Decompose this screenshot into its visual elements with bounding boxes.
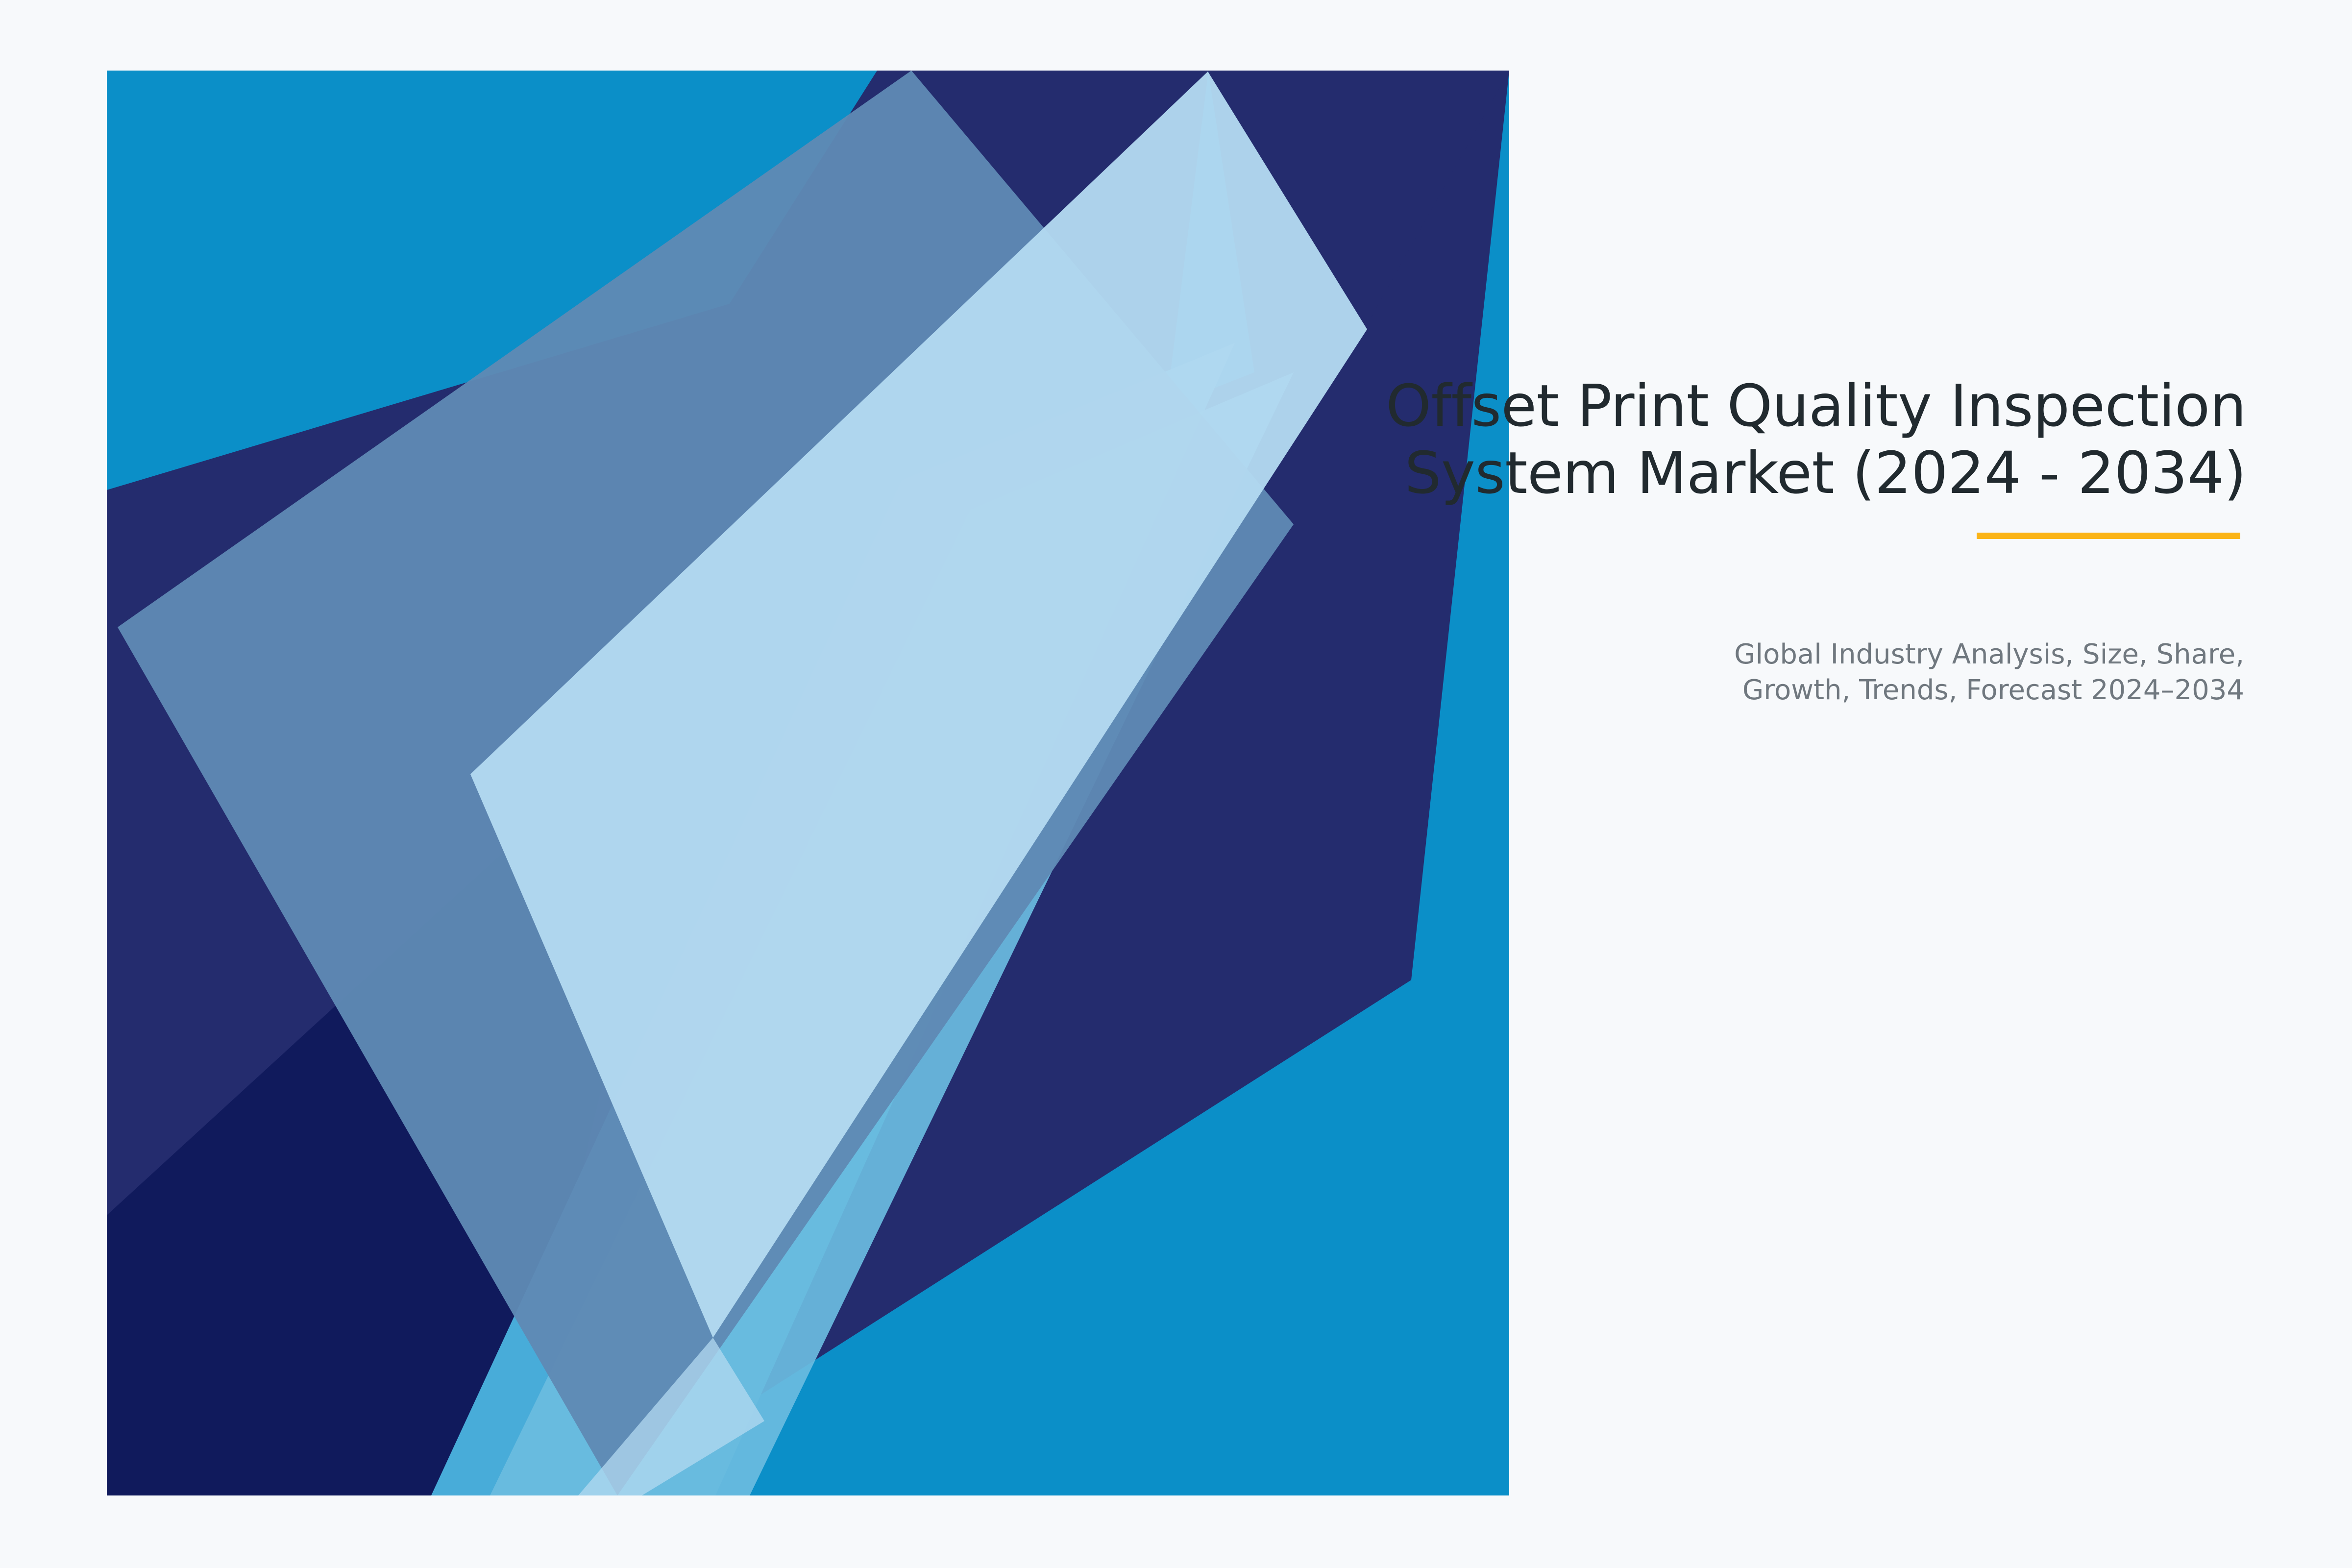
title-underline-accent: [1977, 533, 2240, 539]
report-cover-page: Offset Print Quality Inspection System M…: [0, 0, 2352, 1568]
page-title: Offset Print Quality Inspection System M…: [931, 372, 2246, 507]
title-block: Offset Print Quality Inspection System M…: [931, 372, 2246, 507]
abstract-polygon-artwork: [0, 0, 2352, 1568]
page-subtitle: Global Industry Analysis, Size, Share, G…: [1323, 637, 2244, 709]
subtitle-block: Global Industry Analysis, Size, Share, G…: [1323, 637, 2244, 709]
